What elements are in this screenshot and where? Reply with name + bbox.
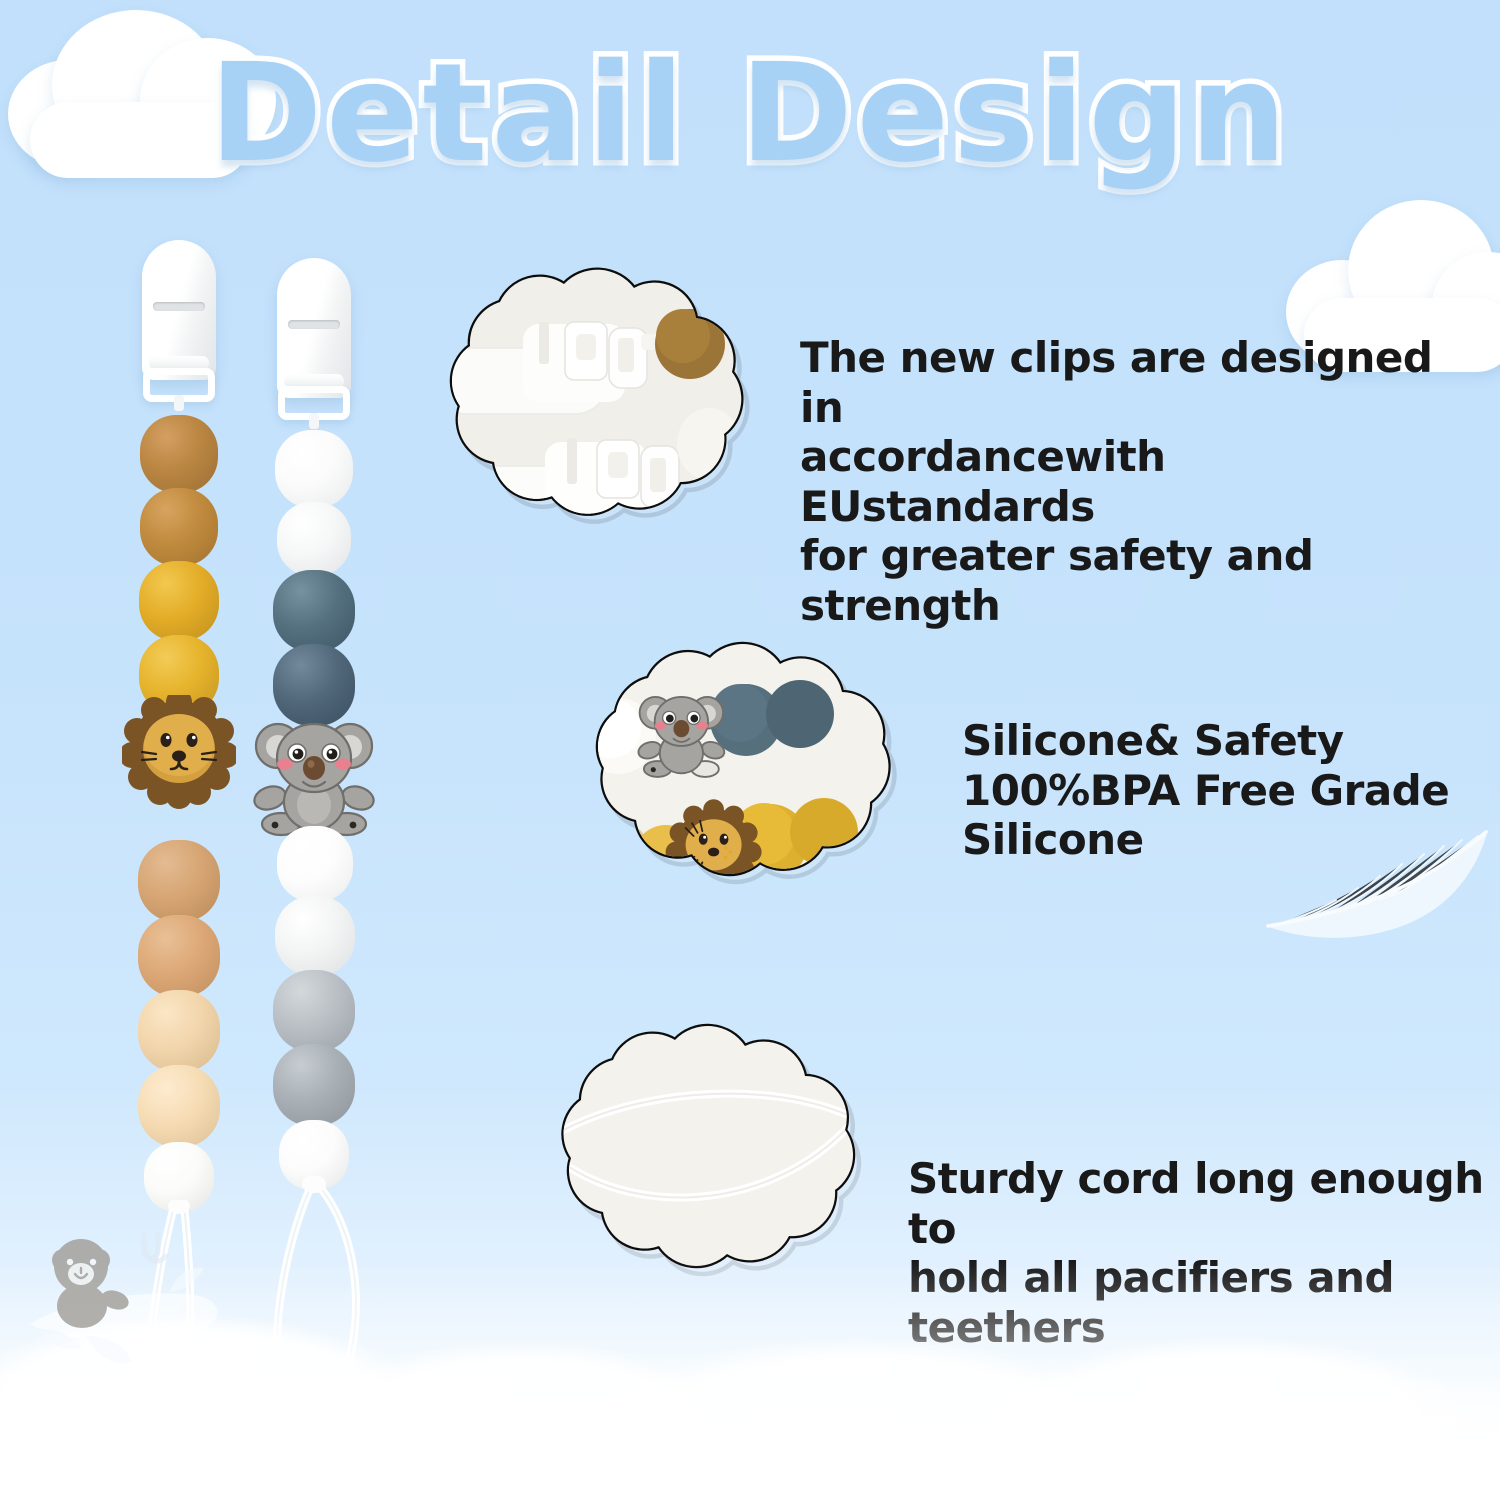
feature-panel-silicone (548, 636, 928, 946)
bead (273, 1044, 355, 1126)
clip-ring (143, 368, 215, 402)
clip-slot (288, 320, 340, 329)
product-koala-pacifier-clip (245, 258, 415, 1378)
bead (275, 896, 355, 976)
cord-loop (245, 1176, 395, 1456)
feature-panel-clips (405, 262, 765, 592)
cord-loop (118, 1200, 248, 1470)
bead (277, 502, 351, 576)
caption-cord: Sturdy cord long enough to hold all paci… (908, 1154, 1488, 1352)
clip-slot (153, 302, 205, 311)
caption-clips: The new clips are designed in accordance… (800, 333, 1440, 630)
page-title: Detail Design (0, 40, 1500, 190)
clip-ring (278, 386, 350, 420)
scallop-frame (405, 262, 765, 592)
clip-head (142, 240, 216, 380)
koala-charm-icon (251, 706, 377, 838)
feature-panel-cord (515, 1018, 885, 1348)
bead (273, 570, 355, 652)
clip-head (277, 258, 351, 398)
scallop-frame (515, 1018, 885, 1348)
bead (138, 840, 220, 922)
bead (140, 415, 218, 493)
bead (138, 990, 220, 1072)
bead (273, 970, 355, 1052)
bead (277, 826, 353, 902)
caption-silicone: Silicone& Safety 100%BPA Free Grade Sili… (962, 716, 1500, 865)
scallop-frame (548, 636, 928, 946)
bead (275, 430, 353, 508)
bead (139, 561, 219, 641)
bead (140, 488, 218, 566)
bead (138, 915, 220, 997)
bead (138, 1065, 220, 1147)
lion-charm-icon (122, 695, 236, 815)
detail-design-poster: Detail Design (0, 0, 1500, 1500)
